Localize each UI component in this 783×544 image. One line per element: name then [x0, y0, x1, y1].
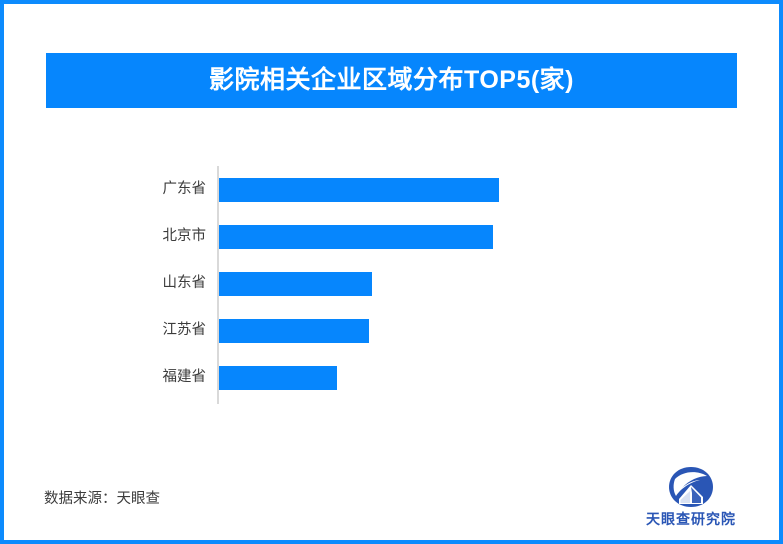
- card-background: 影院相关企业区域分布TOP5(家) 广东省北京市山东省江苏省福建省 数据来源：天…: [4, 4, 779, 540]
- bar-track: [219, 366, 337, 390]
- chart-row: 福建省: [46, 354, 737, 401]
- title-banner: 影院相关企业区域分布TOP5(家): [46, 53, 737, 108]
- bar-chart: 广东省北京市山东省江苏省福建省: [46, 154, 737, 419]
- bar[interactable]: [219, 225, 493, 249]
- bar[interactable]: [219, 319, 369, 343]
- category-label: 山东省: [46, 276, 206, 291]
- infographic-canvas: 影院相关企业区域分布TOP5(家) 广东省北京市山东省江苏省福建省 数据来源：天…: [0, 0, 783, 544]
- category-label: 江苏省: [46, 323, 206, 338]
- brand-logo-text: 天眼查研究院: [646, 512, 736, 526]
- data-source-label: 数据来源：天眼查: [44, 492, 160, 507]
- tianyancha-eye-mountain-icon: [667, 466, 715, 508]
- bar[interactable]: [219, 178, 499, 202]
- page-title: 影院相关企业区域分布TOP5(家): [209, 68, 574, 93]
- chart-row: 北京市: [46, 213, 737, 260]
- bar-track: [219, 225, 493, 249]
- chart-row: 江苏省: [46, 307, 737, 354]
- bar-track: [219, 178, 499, 202]
- category-label: 北京市: [46, 229, 206, 244]
- chart-row: 山东省: [46, 260, 737, 307]
- bar[interactable]: [219, 366, 337, 390]
- category-label: 福建省: [46, 370, 206, 385]
- bar-track: [219, 272, 372, 296]
- bar-track: [219, 319, 369, 343]
- bar[interactable]: [219, 272, 372, 296]
- chart-row: 广东省: [46, 166, 737, 213]
- brand-logo: 天眼查研究院: [631, 458, 751, 526]
- chart-rows: 广东省北京市山东省江苏省福建省: [46, 166, 737, 404]
- category-label: 广东省: [46, 182, 206, 197]
